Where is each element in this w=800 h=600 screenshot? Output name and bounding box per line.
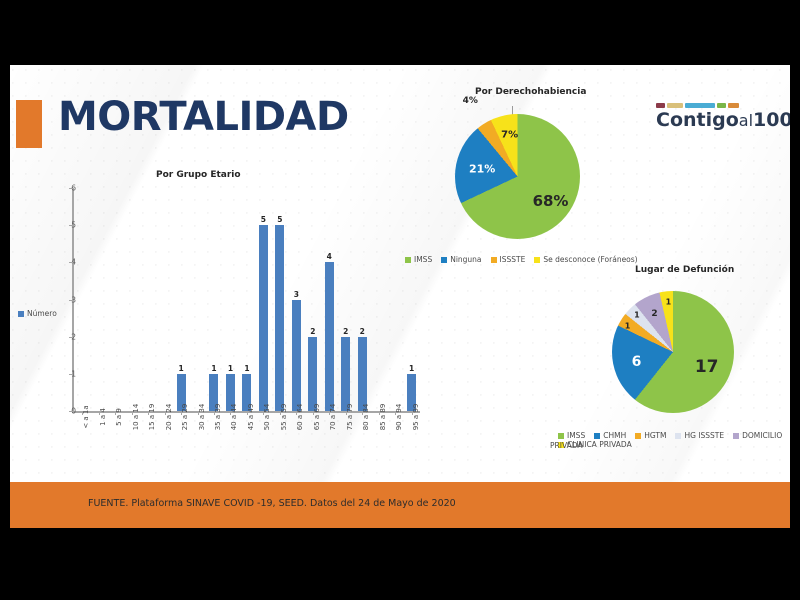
legend-item: IMSS <box>558 431 585 440</box>
y-tick-mark <box>69 411 73 412</box>
x-axis-label: 75 a 79 <box>338 415 354 459</box>
pie-chart-derechohabiencia: Por Derechohabiencia 68%21%4%7% IMSSNing… <box>405 87 680 277</box>
legend-item: ISSSTE <box>491 255 526 264</box>
x-axis-label-text: 75 a 79 <box>346 404 354 431</box>
x-axis-label: 5 a 9 <box>107 415 123 459</box>
x-axis-label-text: 1 a 4 <box>99 408 107 426</box>
pie-slice-value-label: 1 <box>666 298 672 307</box>
x-axis-label: 80 a 84 <box>354 415 370 459</box>
legend-swatch <box>534 257 540 263</box>
x-axis-label-text: 40 a 44 <box>230 404 238 431</box>
bar <box>292 300 301 412</box>
bar-column <box>74 188 90 411</box>
legend-item: Ninguna <box>441 255 481 264</box>
x-axis-label: 35 a 39 <box>206 415 222 459</box>
x-axis-label: 85 a 89 <box>370 415 386 459</box>
bar-column <box>90 188 106 411</box>
logo-text-thin: al <box>739 111 753 130</box>
bar-value-label: 1 <box>409 364 414 373</box>
bar-column: 5 <box>272 188 288 411</box>
legend-swatch <box>675 433 681 439</box>
bar-value-label: 4 <box>327 252 332 261</box>
x-axis-label: 55 a 59 <box>272 415 288 459</box>
x-axis-label: 1 a 4 <box>90 415 106 459</box>
bar-column <box>189 188 205 411</box>
x-axis-label-text: 5 a 9 <box>115 408 123 426</box>
pie2-legend: IMSSCHMHHGTMHG ISSSTEDOMICILIOCLINICA PR… <box>558 431 790 449</box>
pie2-graphic: 1761121 <box>612 291 734 413</box>
x-axis-label-text: 45 a 49 <box>247 404 255 431</box>
x-axis-label: 40 a 44 <box>222 415 238 459</box>
bar-column: 2 <box>338 188 354 411</box>
x-axis-label: 50 a 54 <box>255 415 271 459</box>
bar-column: 2 <box>354 188 370 411</box>
x-axis-label-text: 50 a 54 <box>263 404 271 431</box>
pie-slice-value-label: 17 <box>695 357 719 377</box>
logo-dash-3 <box>717 103 726 108</box>
x-axis-label: 30 a 34 <box>189 415 205 459</box>
bar-value-label: 2 <box>343 327 348 336</box>
legend-label: HGTM <box>644 431 666 440</box>
legend-item: HG ISSSTE <box>675 431 724 440</box>
bar-value-label: 2 <box>310 327 315 336</box>
legend-label: ISSSTE <box>500 255 526 264</box>
x-axis-label-text: 95 a 99 <box>412 404 420 431</box>
y-tick-mark <box>69 188 73 189</box>
y-tick-mark <box>69 374 73 375</box>
bar-chart-legend: Número <box>18 309 57 318</box>
y-tick-label: 5 <box>56 221 76 230</box>
x-axis-label: 65 a 69 <box>305 415 321 459</box>
pie1-title: Por Derechohabiencia <box>475 87 586 97</box>
y-tick-mark <box>69 300 73 301</box>
logo-dash-4 <box>728 103 739 108</box>
x-axis-label: 95 a 99 <box>403 415 419 459</box>
x-axis-label: 15 a 19 <box>140 415 156 459</box>
legend-label: DOMICILIO <box>742 431 782 440</box>
y-tick-label: 6 <box>56 184 76 193</box>
legend-label: IMSS <box>414 255 432 264</box>
x-axis-label-text: 10 a 14 <box>132 404 140 431</box>
bar-chart-title: Por Grupo Etario <box>156 170 241 180</box>
y-tick-label: 2 <box>56 332 76 341</box>
screenshot-stage: MORTALIDAD Contigoal100 Por Grupo Etario… <box>0 0 800 600</box>
legend-swatch <box>635 433 641 439</box>
legend-item: HGTM <box>635 431 666 440</box>
x-axis-label: 10 a 14 <box>123 415 139 459</box>
pie-slice-value-label: 1 <box>634 310 640 319</box>
bar-column: 1 <box>206 188 222 411</box>
bar-value-label: 1 <box>211 364 216 373</box>
title-accent-bar <box>16 100 42 148</box>
bar-value-label: 3 <box>294 290 299 299</box>
bar-value-label: 5 <box>261 215 266 224</box>
x-axis-label: 45 a 49 <box>239 415 255 459</box>
legend-label: CHMH <box>603 431 626 440</box>
x-axis-label-text: 85 a 89 <box>379 404 387 431</box>
x-axis-labels: < a 1a1 a 45 a 910 a 1415 a 1920 a 2425 … <box>74 415 420 459</box>
pie1-legend: IMSSNingunaISSSTESe desconoce (Foráneos) <box>405 255 680 264</box>
y-tick-label: 3 <box>56 295 76 304</box>
x-axis-label-text: 60 a 64 <box>296 404 304 431</box>
pie-slice-value-label: 1 <box>625 322 631 331</box>
logo-text-number: 100 <box>753 109 790 131</box>
x-axis-label: 25 a 29 <box>173 415 189 459</box>
bar-column: 4 <box>321 188 337 411</box>
legend-swatch-numero <box>18 311 24 317</box>
legend-item: IMSS <box>405 255 432 264</box>
bar-chart-plot-area: 111155324221 0123456 <box>72 188 420 411</box>
pie-slice-value-label: 2 <box>651 309 657 319</box>
pie-chart-lugar-defuncion: Lugar de Defunción 1761121 IMSSCHMHHGTMH… <box>550 265 790 480</box>
x-axis-label-text: 90 a 94 <box>395 404 403 431</box>
bar-column: 3 <box>288 188 304 411</box>
bar-chart-grupo-etario: Por Grupo Etario Número 111155324221 012… <box>10 170 435 470</box>
pie-slice-value-label: 21% <box>469 162 495 175</box>
legend-label: HG ISSSTE <box>684 431 724 440</box>
x-axis-label-text: < a 1a <box>82 405 90 428</box>
bar-column <box>123 188 139 411</box>
legend-label-numero: Número <box>27 309 57 318</box>
x-axis-label-text: 55 a 59 <box>280 404 288 431</box>
bar-column: 1 <box>222 188 238 411</box>
x-axis-label-text: 80 a 84 <box>362 404 370 431</box>
bar-column <box>370 188 386 411</box>
legend-swatch <box>558 433 564 439</box>
legend-label: Se desconoce (Foráneos) <box>543 255 637 264</box>
bar-column: 1 <box>239 188 255 411</box>
bar <box>341 337 350 411</box>
bar <box>308 337 317 411</box>
y-tick-label: 1 <box>56 369 76 378</box>
bar-column <box>107 188 123 411</box>
y-tick-mark <box>69 337 73 338</box>
pie-slice-value-label: 7% <box>501 129 518 140</box>
bar-column: 2 <box>305 188 321 411</box>
pie1-graphic: 68%21%4%7% <box>455 114 580 239</box>
page-title: MORTALIDAD <box>58 97 349 137</box>
legend-swatch <box>441 257 447 263</box>
legend-label: Ninguna <box>450 255 481 264</box>
bar-value-label: 5 <box>277 215 282 224</box>
bar-column <box>156 188 172 411</box>
bar-column: 5 <box>255 188 271 411</box>
legend-item: DOMICILIO <box>733 431 782 440</box>
footer-band: FUENTE. Plataforma SINAVE COVID -19, SEE… <box>10 482 790 528</box>
x-axis-label-text: 70 a 74 <box>329 404 337 431</box>
pie-slice-value-label: 68% <box>533 192 569 210</box>
presentation-slide: MORTALIDAD Contigoal100 Por Grupo Etario… <box>10 65 790 528</box>
logo-dash-2 <box>685 103 715 108</box>
x-axis-label: 90 a 94 <box>387 415 403 459</box>
pie-slice-value-label: 6 <box>632 354 642 370</box>
y-tick-label: 0 <box>56 407 76 416</box>
legend-item: Se desconoce (Foráneos) <box>534 255 637 264</box>
legend-swatch <box>594 433 600 439</box>
footer-source-text: FUENTE. Plataforma SINAVE COVID -19, SEE… <box>88 498 456 509</box>
y-tick-mark <box>69 225 73 226</box>
x-axis-label-text: 65 a 69 <box>313 404 321 431</box>
x-axis-label-text: 30 a 34 <box>198 404 206 431</box>
bar-column: 1 <box>173 188 189 411</box>
pie2-legend-wrap: PRIVADA <box>550 441 583 450</box>
legend-swatch <box>491 257 497 263</box>
x-axis-label: 60 a 64 <box>288 415 304 459</box>
x-axis-label: 70 a 74 <box>321 415 337 459</box>
bar <box>259 225 268 411</box>
bar-value-label: 1 <box>178 364 183 373</box>
bar <box>325 262 334 411</box>
x-axis-label-text: 25 a 29 <box>181 404 189 431</box>
x-axis-label: < a 1a <box>74 415 90 459</box>
x-axis-label-text: 35 a 39 <box>214 404 222 431</box>
y-tick-mark <box>69 262 73 263</box>
bar-value-label: 1 <box>244 364 249 373</box>
y-tick-label: 4 <box>56 258 76 267</box>
bar <box>275 225 284 411</box>
legend-item: CHMH <box>594 431 626 440</box>
x-axis-label: 20 a 24 <box>156 415 172 459</box>
x-axis-label-text: 20 a 24 <box>165 404 173 431</box>
legend-swatch <box>405 257 411 263</box>
pie2-title: Lugar de Defunción <box>635 265 734 275</box>
bar-column <box>140 188 156 411</box>
x-axis-label-text: 15 a 19 <box>148 404 156 431</box>
bar-series: 111155324221 <box>74 188 420 411</box>
bar-value-label: 2 <box>360 327 365 336</box>
legend-label: IMSS <box>567 431 585 440</box>
pie-slice-value-label: 4% <box>463 96 478 106</box>
bar-column <box>387 188 403 411</box>
bar-value-label: 1 <box>228 364 233 373</box>
bar <box>358 337 367 411</box>
legend-swatch <box>733 433 739 439</box>
